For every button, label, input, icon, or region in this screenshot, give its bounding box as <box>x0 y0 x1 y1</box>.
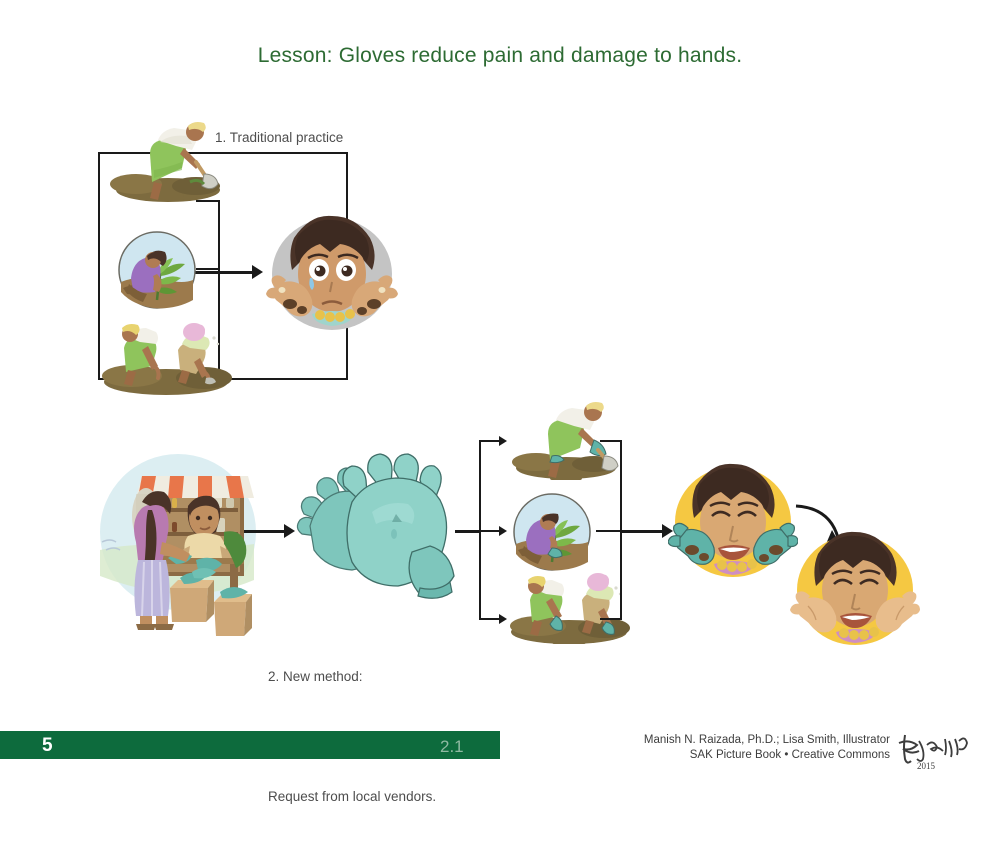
illustration-pair-of-rubber-gloves <box>292 442 464 614</box>
branch-arm-top <box>479 440 501 442</box>
illustrator-signature: 2015 <box>895 729 975 771</box>
arrow-head-to-sad-face <box>252 265 263 279</box>
footer-green-bar <box>0 731 500 759</box>
converge-arm-bottom <box>600 618 622 620</box>
illustration-woman-planting-seedling-gloved <box>512 492 592 572</box>
illustration-sad-face-dirty-hands <box>264 212 400 338</box>
branch-arm-mid <box>479 530 501 532</box>
illustration-happy-face-clean-hands <box>790 528 920 654</box>
illustration-happy-face-gloved-hands <box>668 460 798 586</box>
illustration-market-vendor-stall <box>96 450 256 650</box>
converge-arm-top <box>600 440 622 442</box>
illustration-two-women-weeding-gloved <box>504 566 634 648</box>
caption-new-method-line1: 2. New method: <box>268 667 436 687</box>
signature-year: 2015 <box>917 761 936 771</box>
illustration-two-women-weeding <box>96 312 236 400</box>
arrow-shaft-gloves-to-branch <box>455 530 481 533</box>
caption-traditional-practice: 1. Traditional practice <box>215 128 343 148</box>
illustration-woman-digging-with-hoe-gloved <box>502 396 622 482</box>
footer-credit: Manish N. Raizada, Ph.D.; Lisa Smith, Il… <box>560 733 890 763</box>
arrow-shaft-market-to-gloves <box>244 530 286 533</box>
arrow-shaft-to-happy-gloved <box>620 530 664 533</box>
footer-section-number: 2.1 <box>440 737 464 757</box>
branch-arrow-mid <box>499 526 507 536</box>
branch-arm-bottom <box>479 618 501 620</box>
illustration-woman-digging-with-hoe <box>96 112 226 204</box>
footer-credit-line1: Manish N. Raizada, Ph.D.; Lisa Smith, Il… <box>560 733 890 748</box>
footer-credit-line2: SAK Picture Book • Creative Commons <box>560 748 890 763</box>
caption-new-method-line3: Request from local vendors. <box>268 787 436 807</box>
converge-arm-mid <box>596 530 622 532</box>
bracket-inner-mid-stub <box>196 268 220 270</box>
illustration-woman-planting-seedling <box>117 230 197 310</box>
footer-page-number: 5 <box>42 735 53 757</box>
page-title: Lesson: Gloves reduce pain and damage to… <box>0 44 1000 68</box>
slide-canvas: Lesson: Gloves reduce pain and damage to… <box>0 0 1000 773</box>
